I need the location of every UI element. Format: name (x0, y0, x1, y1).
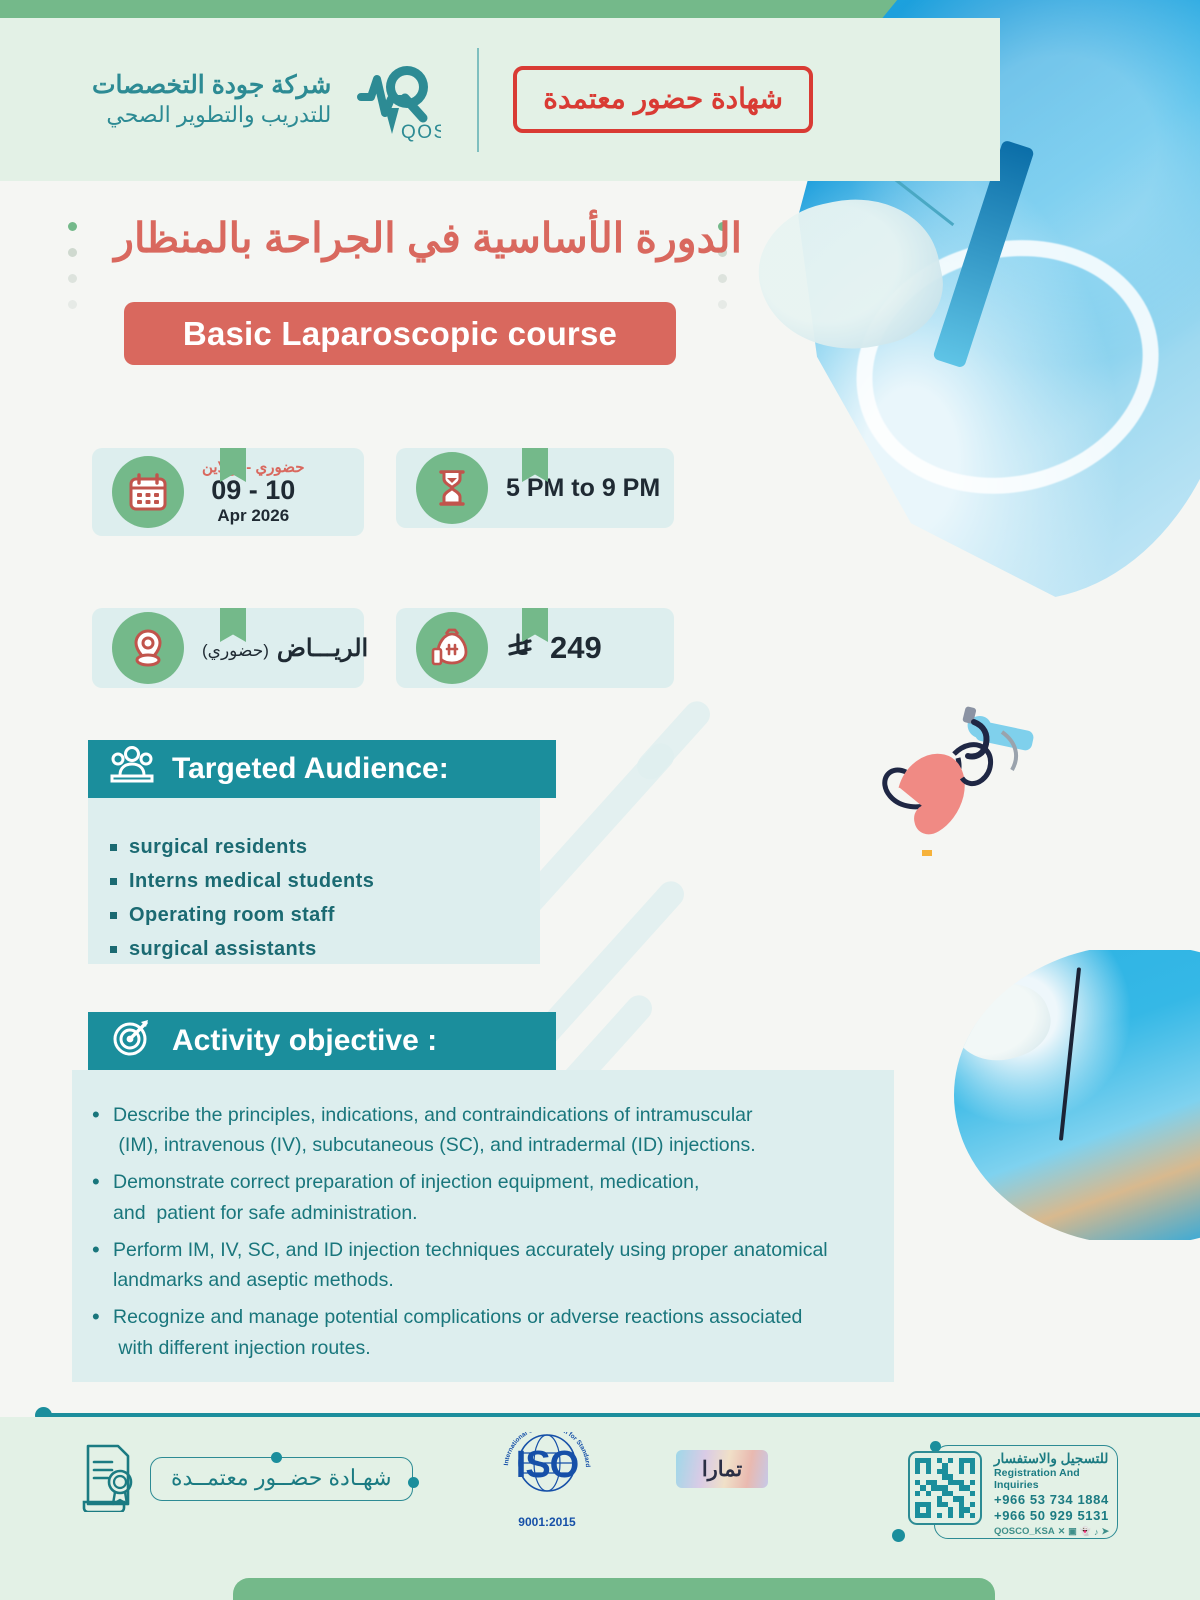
targeted-audience-header: Targeted Audience: (88, 740, 556, 798)
qr-code-icon[interactable] (908, 1451, 982, 1525)
stomach-endoscope-illustration (870, 700, 1100, 910)
course-month-year: Apr 2026 (202, 506, 304, 526)
targeted-audience-body: surgical residents Interns medical stude… (88, 798, 540, 964)
objective-line: landmarks and aseptic methods. (113, 1265, 828, 1295)
contact-text: للتسجيل والاستفسار Registration And Inqu… (994, 1451, 1118, 1537)
audience-item-label: Interns medical students (129, 870, 374, 893)
social-handle-row: QOSCO_KSA ✕ ▣ 👻 ♪ ➤ (994, 1526, 1118, 1537)
bullet-icon (110, 912, 117, 919)
bullet-icon (110, 878, 117, 885)
list-item: surgical residents (110, 836, 540, 859)
tamara-logo: تمارا (676, 1450, 768, 1488)
header-divider (477, 48, 479, 152)
calendar-icon (112, 456, 184, 528)
list-item: Operating room staff (110, 904, 540, 927)
title-dots-left (68, 222, 77, 326)
money-bag-icon (416, 612, 488, 684)
contact-phone-2[interactable]: +966 50 929 5131 (994, 1508, 1118, 1523)
attendance-mode-label: حضوري - اونلاين (202, 458, 304, 476)
info-card-date: حضوري - اونلاين 09 - 10 Apr 2026 (92, 448, 364, 536)
iso-standard-number: 9001:2015 (492, 1515, 602, 1529)
registration-title-arabic: للتسجيل والاستفسار (994, 1451, 1118, 1467)
map-pin-icon (112, 612, 184, 684)
price-amount: 249 (550, 630, 602, 666)
bullet-icon (110, 844, 117, 851)
course-title-arabic: الدورة الأساسية في الجراحة بالمنظار (92, 214, 742, 262)
bottom-green-pill (233, 1578, 995, 1600)
certificate-block: شهـادة حضــور معتمــدة (80, 1440, 413, 1517)
telegram-icon[interactable]: ➤ (1102, 1526, 1110, 1537)
brand-lockup: شركة جودة التخصصات للتدريب والتطوير الصح… (92, 52, 441, 148)
list-item: • Recognize and manage potential complic… (92, 1302, 870, 1362)
objective-line: Perform IM, IV, SC, and ID injection tec… (113, 1235, 828, 1265)
objective-item: Recognize and manage potential complicat… (113, 1302, 802, 1362)
activity-objective-header: Activity objective : (88, 1012, 556, 1070)
brand-name-line1: شركة جودة التخصصات (92, 70, 331, 101)
bullet-icon: • (92, 1302, 102, 1362)
accredited-certificate-stamp: شهادة حضور معتمدة (513, 66, 813, 133)
audience-item-label: surgical residents (129, 836, 307, 859)
list-item: • Perform IM, IV, SC, and ID injection t… (92, 1235, 870, 1295)
bullet-icon: • (92, 1235, 102, 1295)
hourglass-icon (416, 452, 488, 524)
location-mode: (حضوري) (202, 641, 269, 661)
objective-line: with different injection routes. (113, 1333, 802, 1363)
course-days: 09 - 10 (202, 476, 304, 506)
header: شركة جودة التخصصات للتدريب والتطوير الصح… (0, 18, 1000, 181)
contact-card: للتسجيل والاستفسار Registration And Inqu… (898, 1437, 1118, 1545)
date-card-body: حضوري - اونلاين 09 - 10 Apr 2026 (202, 458, 304, 526)
iso-logo: International Organization for Standardi… (492, 1432, 602, 1529)
activity-objective-title: Activity objective : (172, 1024, 437, 1058)
contact-accent-dot (892, 1529, 905, 1542)
x-icon[interactable]: ✕ (1058, 1526, 1066, 1537)
activity-objective-body: • Describe the principles, indications, … (72, 1070, 894, 1382)
list-item: • Demonstrate correct preparation of inj… (92, 1167, 870, 1227)
list-item: surgical assistants (110, 938, 540, 961)
info-card-time: 5 PM to 9 PM (396, 448, 674, 528)
objective-line: (IM), intravenous (IV), subcutaneous (SC… (113, 1130, 756, 1160)
list-item: • Describe the principles, indications, … (92, 1100, 870, 1160)
audience-item-label: surgical assistants (129, 938, 317, 961)
brand-text: شركة جودة التخصصات للتدريب والتطوير الصح… (92, 70, 331, 129)
bullet-icon: • (92, 1167, 102, 1227)
objective-item: Demonstrate correct preparation of injec… (113, 1167, 699, 1227)
instagram-icon[interactable]: ▣ (1068, 1526, 1077, 1537)
certificate-document-icon (80, 1440, 140, 1517)
info-card-location: الريـــاض (حضوري) (92, 608, 364, 688)
objective-line: and patient for safe administration. (113, 1198, 699, 1228)
location-city: الريـــاض (277, 634, 368, 663)
bullet-icon (110, 946, 117, 953)
targeted-audience-title: Targeted Audience: (172, 752, 449, 786)
list-item: Interns medical students (110, 870, 540, 893)
registration-title-english: Registration And Inquiries (994, 1467, 1118, 1491)
social-handle: QOSCO_KSA (994, 1526, 1055, 1537)
certificate-label: شهـادة حضــور معتمــدة (150, 1457, 413, 1501)
info-card-price: 249 (396, 608, 674, 688)
brand-name-line2: للتدريب والتطوير الصحي (92, 101, 331, 129)
objective-item: Describe the principles, indications, an… (113, 1100, 756, 1160)
poster-root: شركة جودة التخصصات للتدريب والتطوير الصح… (0, 0, 1200, 1600)
contact-phone-1[interactable]: +966 53 734 1884 (994, 1492, 1118, 1507)
course-title-english: Basic Laparoscopic course (124, 302, 676, 365)
qosco-logo-icon: QOSCO (345, 52, 441, 148)
audience-item-label: Operating room staff (129, 904, 335, 927)
qr-grid (915, 1458, 975, 1518)
target-icon (110, 1016, 154, 1066)
objective-line: Demonstrate correct preparation of injec… (113, 1167, 699, 1197)
tiktok-icon[interactable]: ♪ (1094, 1527, 1099, 1537)
price-card-body: 249 (506, 630, 602, 667)
objective-line: Recognize and manage potential complicat… (113, 1302, 802, 1332)
objective-item: Perform IM, IV, SC, and ID injection tec… (113, 1235, 828, 1295)
svg-text:QOSCO: QOSCO (401, 122, 441, 143)
people-group-icon (110, 745, 154, 793)
objective-line: Describe the principles, indications, an… (113, 1100, 756, 1130)
snapchat-icon[interactable]: 👻 (1080, 1526, 1091, 1537)
bullet-icon: • (92, 1100, 102, 1160)
iso-wordmark: ISO (492, 1446, 602, 1484)
